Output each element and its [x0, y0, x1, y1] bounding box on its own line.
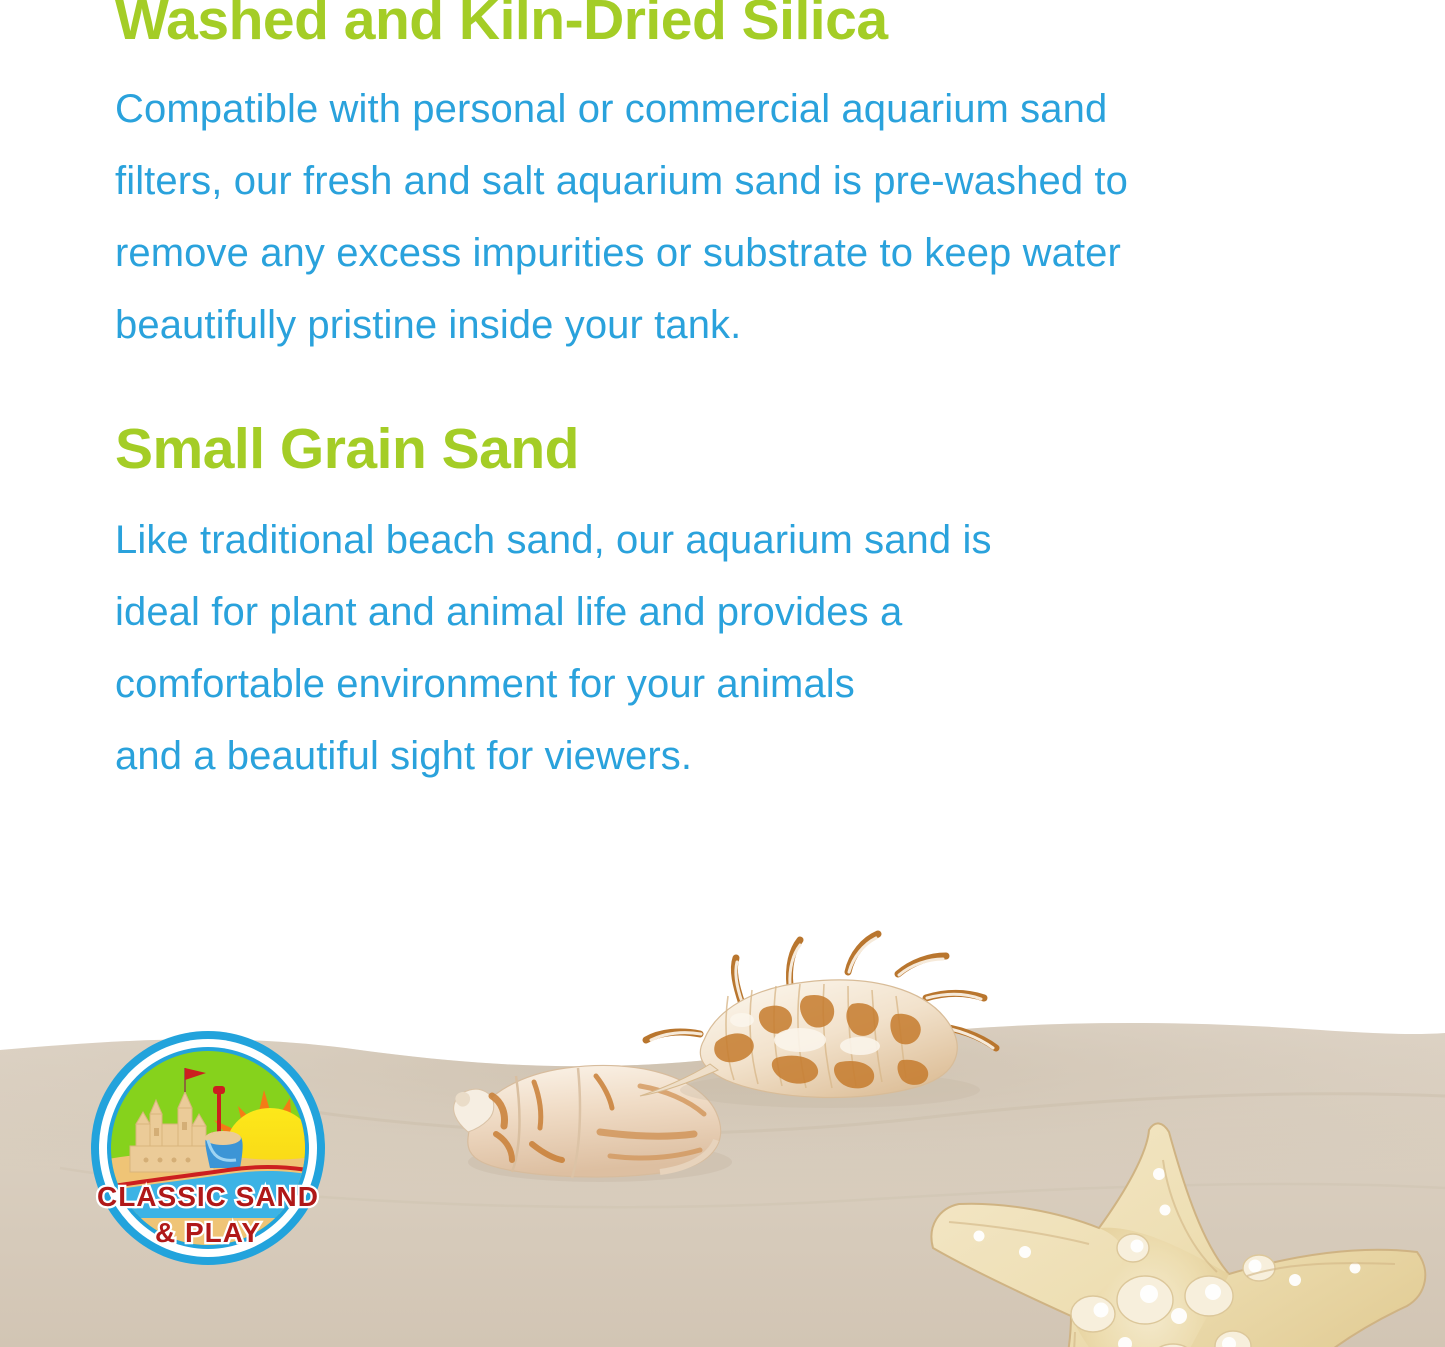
section-paragraph-2: Like traditional beach sand, our aquariu…: [115, 504, 1315, 792]
classic-sand-and-play-logo: CLASSIC SAND & PLAY: [88, 1028, 328, 1268]
section-heading-1: Washed and Kiln-Dried Silica: [115, 0, 1315, 49]
section-paragraph-1: Compatible with personal or commercial a…: [115, 73, 1315, 361]
copy-block: Washed and Kiln-Dried Silica Compatible …: [115, 0, 1315, 792]
brand-logo: CLASSIC SAND & PLAY: [88, 1028, 328, 1268]
section-heading-2: Small Grain Sand: [115, 421, 1315, 478]
paragraph-2-line-3: comfortable environment for your animals: [115, 648, 1315, 720]
paragraph-2-line-2: ideal for plant and animal life and prov…: [115, 576, 1315, 648]
logo-brand-line-1: CLASSIC SAND: [97, 1181, 319, 1212]
paragraph-1-line-3: remove any excess impurities or substrat…: [115, 217, 1315, 289]
paragraph-1-line-2: filters, our fresh and salt aquarium san…: [115, 145, 1315, 217]
paragraph-2-line-1: Like traditional beach sand, our aquariu…: [115, 504, 1315, 576]
product-feature-image: Washed and Kiln-Dried Silica Compatible …: [0, 0, 1445, 1347]
paragraph-2-line-4: and a beautiful sight for viewers.: [115, 720, 1315, 792]
logo-brand-line-2: & PLAY: [155, 1217, 261, 1248]
logo-bucket: [205, 1131, 243, 1168]
paragraph-1-line-4: beautifully pristine inside your tank.: [115, 289, 1315, 361]
paragraph-1-line-1: Compatible with personal or commercial a…: [115, 73, 1315, 145]
